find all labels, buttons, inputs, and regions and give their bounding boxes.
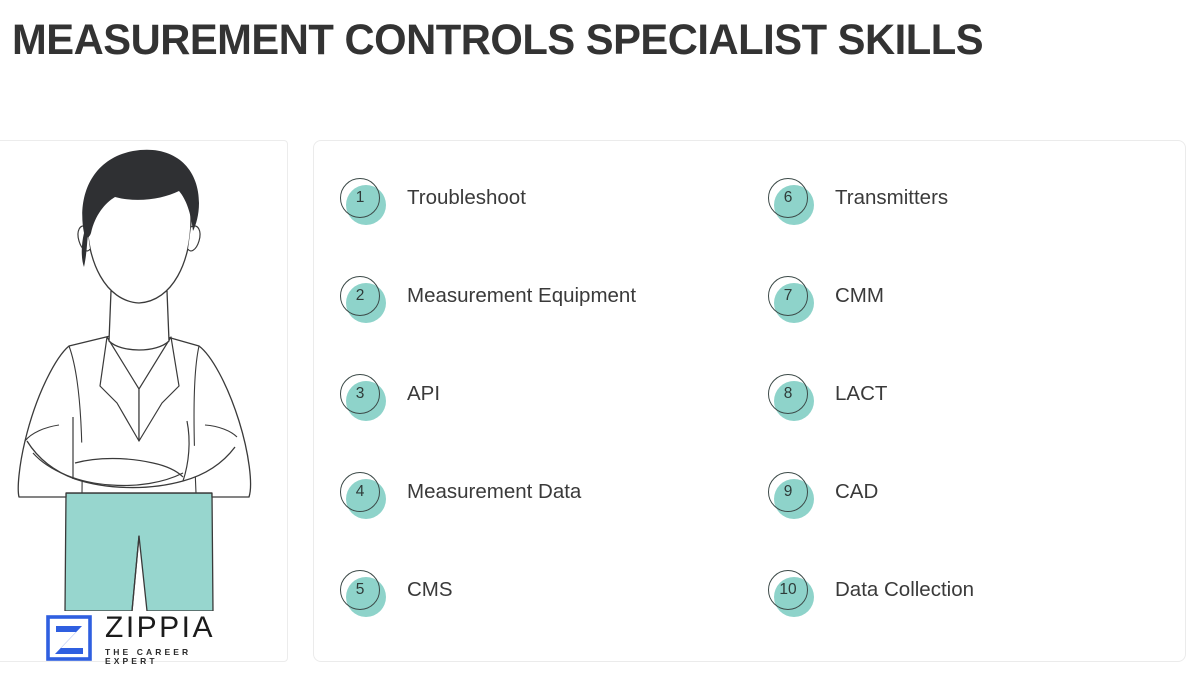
- skill-number-badge: 5: [338, 569, 386, 617]
- badge-number: 8: [768, 374, 808, 414]
- badge-number: 7: [768, 276, 808, 316]
- badge-number: 1: [340, 178, 380, 218]
- skill-row: 4 Measurement Data: [338, 471, 758, 569]
- skill-row: 3 API: [338, 373, 758, 471]
- infographic-page: MEASUREMENT CONTROLS SPECIALIST SKILLS: [0, 0, 1200, 675]
- badge-number: 9: [768, 472, 808, 512]
- skills-panel: 1 Troubleshoot 2 Measurement Equipment 3: [313, 140, 1186, 662]
- skill-row: 1 Troubleshoot: [338, 177, 758, 275]
- badge-number: 6: [768, 178, 808, 218]
- skill-number-badge: 6: [766, 177, 814, 225]
- skill-number-badge: 8: [766, 373, 814, 421]
- skill-number-badge: 7: [766, 275, 814, 323]
- zippia-tagline: THE CAREER EXPERT: [105, 648, 245, 665]
- skill-label: Measurement Equipment: [407, 283, 636, 309]
- skill-number-badge: 3: [338, 373, 386, 421]
- badge-number: 2: [340, 276, 380, 316]
- skill-row: 6 Transmitters: [766, 177, 1166, 275]
- skill-number-badge: 1: [338, 177, 386, 225]
- skill-label: Data Collection: [835, 577, 974, 603]
- skill-number-badge: 2: [338, 275, 386, 323]
- skill-number-badge: 4: [338, 471, 386, 519]
- skill-row: 10 Data Collection: [766, 569, 1166, 667]
- page-title: MEASUREMENT CONTROLS SPECIALIST SKILLS: [12, 16, 983, 65]
- skill-number-badge: 9: [766, 471, 814, 519]
- skill-label: CAD: [835, 479, 878, 505]
- zippia-logo: ZIPPIA THE CAREER EXPERT: [45, 612, 245, 664]
- skill-label: CMS: [407, 577, 453, 603]
- badge-number: 4: [340, 472, 380, 512]
- skill-row: 9 CAD: [766, 471, 1166, 569]
- skills-column-left: 1 Troubleshoot 2 Measurement Equipment 3: [338, 177, 758, 667]
- skill-label: LACT: [835, 381, 887, 407]
- person-illustration: [0, 141, 288, 611]
- skill-label: Measurement Data: [407, 479, 581, 505]
- badge-number: 5: [340, 570, 380, 610]
- skills-column-right: 6 Transmitters 7 CMM 8 LACT: [766, 177, 1166, 667]
- skill-row: 8 LACT: [766, 373, 1166, 471]
- badge-number: 10: [768, 570, 808, 610]
- skill-number-badge: 10: [766, 569, 814, 617]
- skill-label: Transmitters: [835, 185, 948, 211]
- zippia-wordmark: ZIPPIA: [105, 613, 245, 643]
- zippia-z-mark-icon: [45, 614, 93, 662]
- skill-row: 7 CMM: [766, 275, 1166, 373]
- skill-row: 2 Measurement Equipment: [338, 275, 758, 373]
- badge-number: 3: [340, 374, 380, 414]
- skill-row: 5 CMS: [338, 569, 758, 667]
- skill-label: CMM: [835, 283, 884, 309]
- skill-label: Troubleshoot: [407, 185, 526, 211]
- illustration-card: [0, 140, 288, 662]
- skill-label: API: [407, 381, 440, 407]
